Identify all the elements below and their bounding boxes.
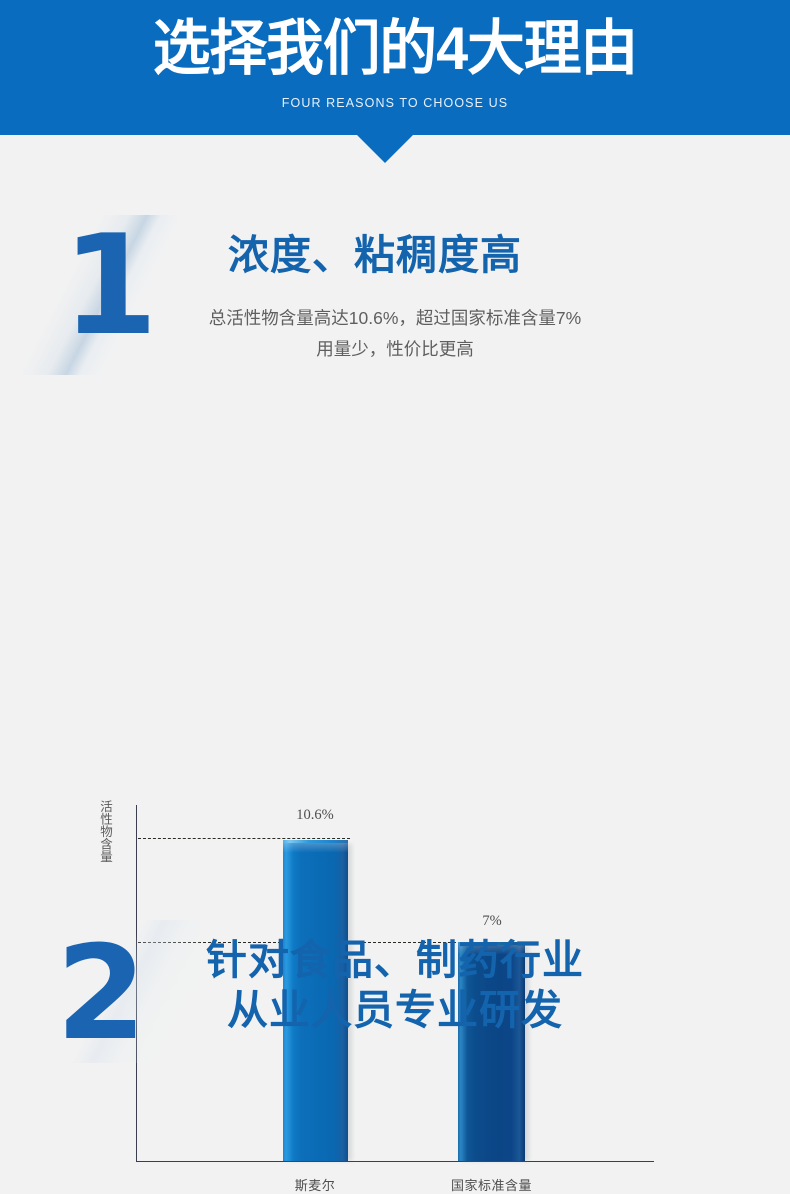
chevron-down-icon [357,135,413,163]
active-matter-content-bar-chart: 活性物含量 10.6% 7% 斯麦尔 国家标准含量 [0,390,790,820]
chart-y-axis-label: 活性物含量 [96,800,112,863]
bar-value-label-smaier: 10.6% [270,807,360,824]
page-title: 选择我们的4大理由 [16,13,774,85]
reason-1-description-line-2: 用量少，性价比更高 [135,334,655,365]
chart-category-label-smaier: 斯麦尔 [255,1175,375,1194]
chart-category-label-national-standard: 国家标准含量 [430,1175,553,1194]
reason-2-title: 针对食品、制药行业 从业人员专业研发 [195,935,595,1035]
reference-line-10-6 [138,838,350,839]
chart-x-axis-line [136,1161,654,1162]
reason-1-title: 浓度、粘稠度高 [228,232,522,278]
bar-top-bevel [283,840,348,843]
page-subtitle: FOUR REASONS TO CHOOSE US [0,96,790,110]
bar-value-label-national-standard: 7% [447,913,537,930]
reason-2-title-line-1: 针对食品、制药行业 [195,935,595,985]
reason-2-numeral-badge: 2 [10,920,200,1063]
reason-1-description-line-1: 总活性物含量高达10.6%，超过国家标准含量7% [135,303,655,334]
reason-2-number: 2 [56,928,146,1058]
reason-1-description: 总活性物含量高达10.6%，超过国家标准含量7% 用量少，性价比更高 [135,303,655,365]
header-banner: 选择我们的4大理由 FOUR REASONS TO CHOOSE US [0,0,790,135]
reason-2-title-line-2: 从业人员专业研发 [195,985,595,1035]
